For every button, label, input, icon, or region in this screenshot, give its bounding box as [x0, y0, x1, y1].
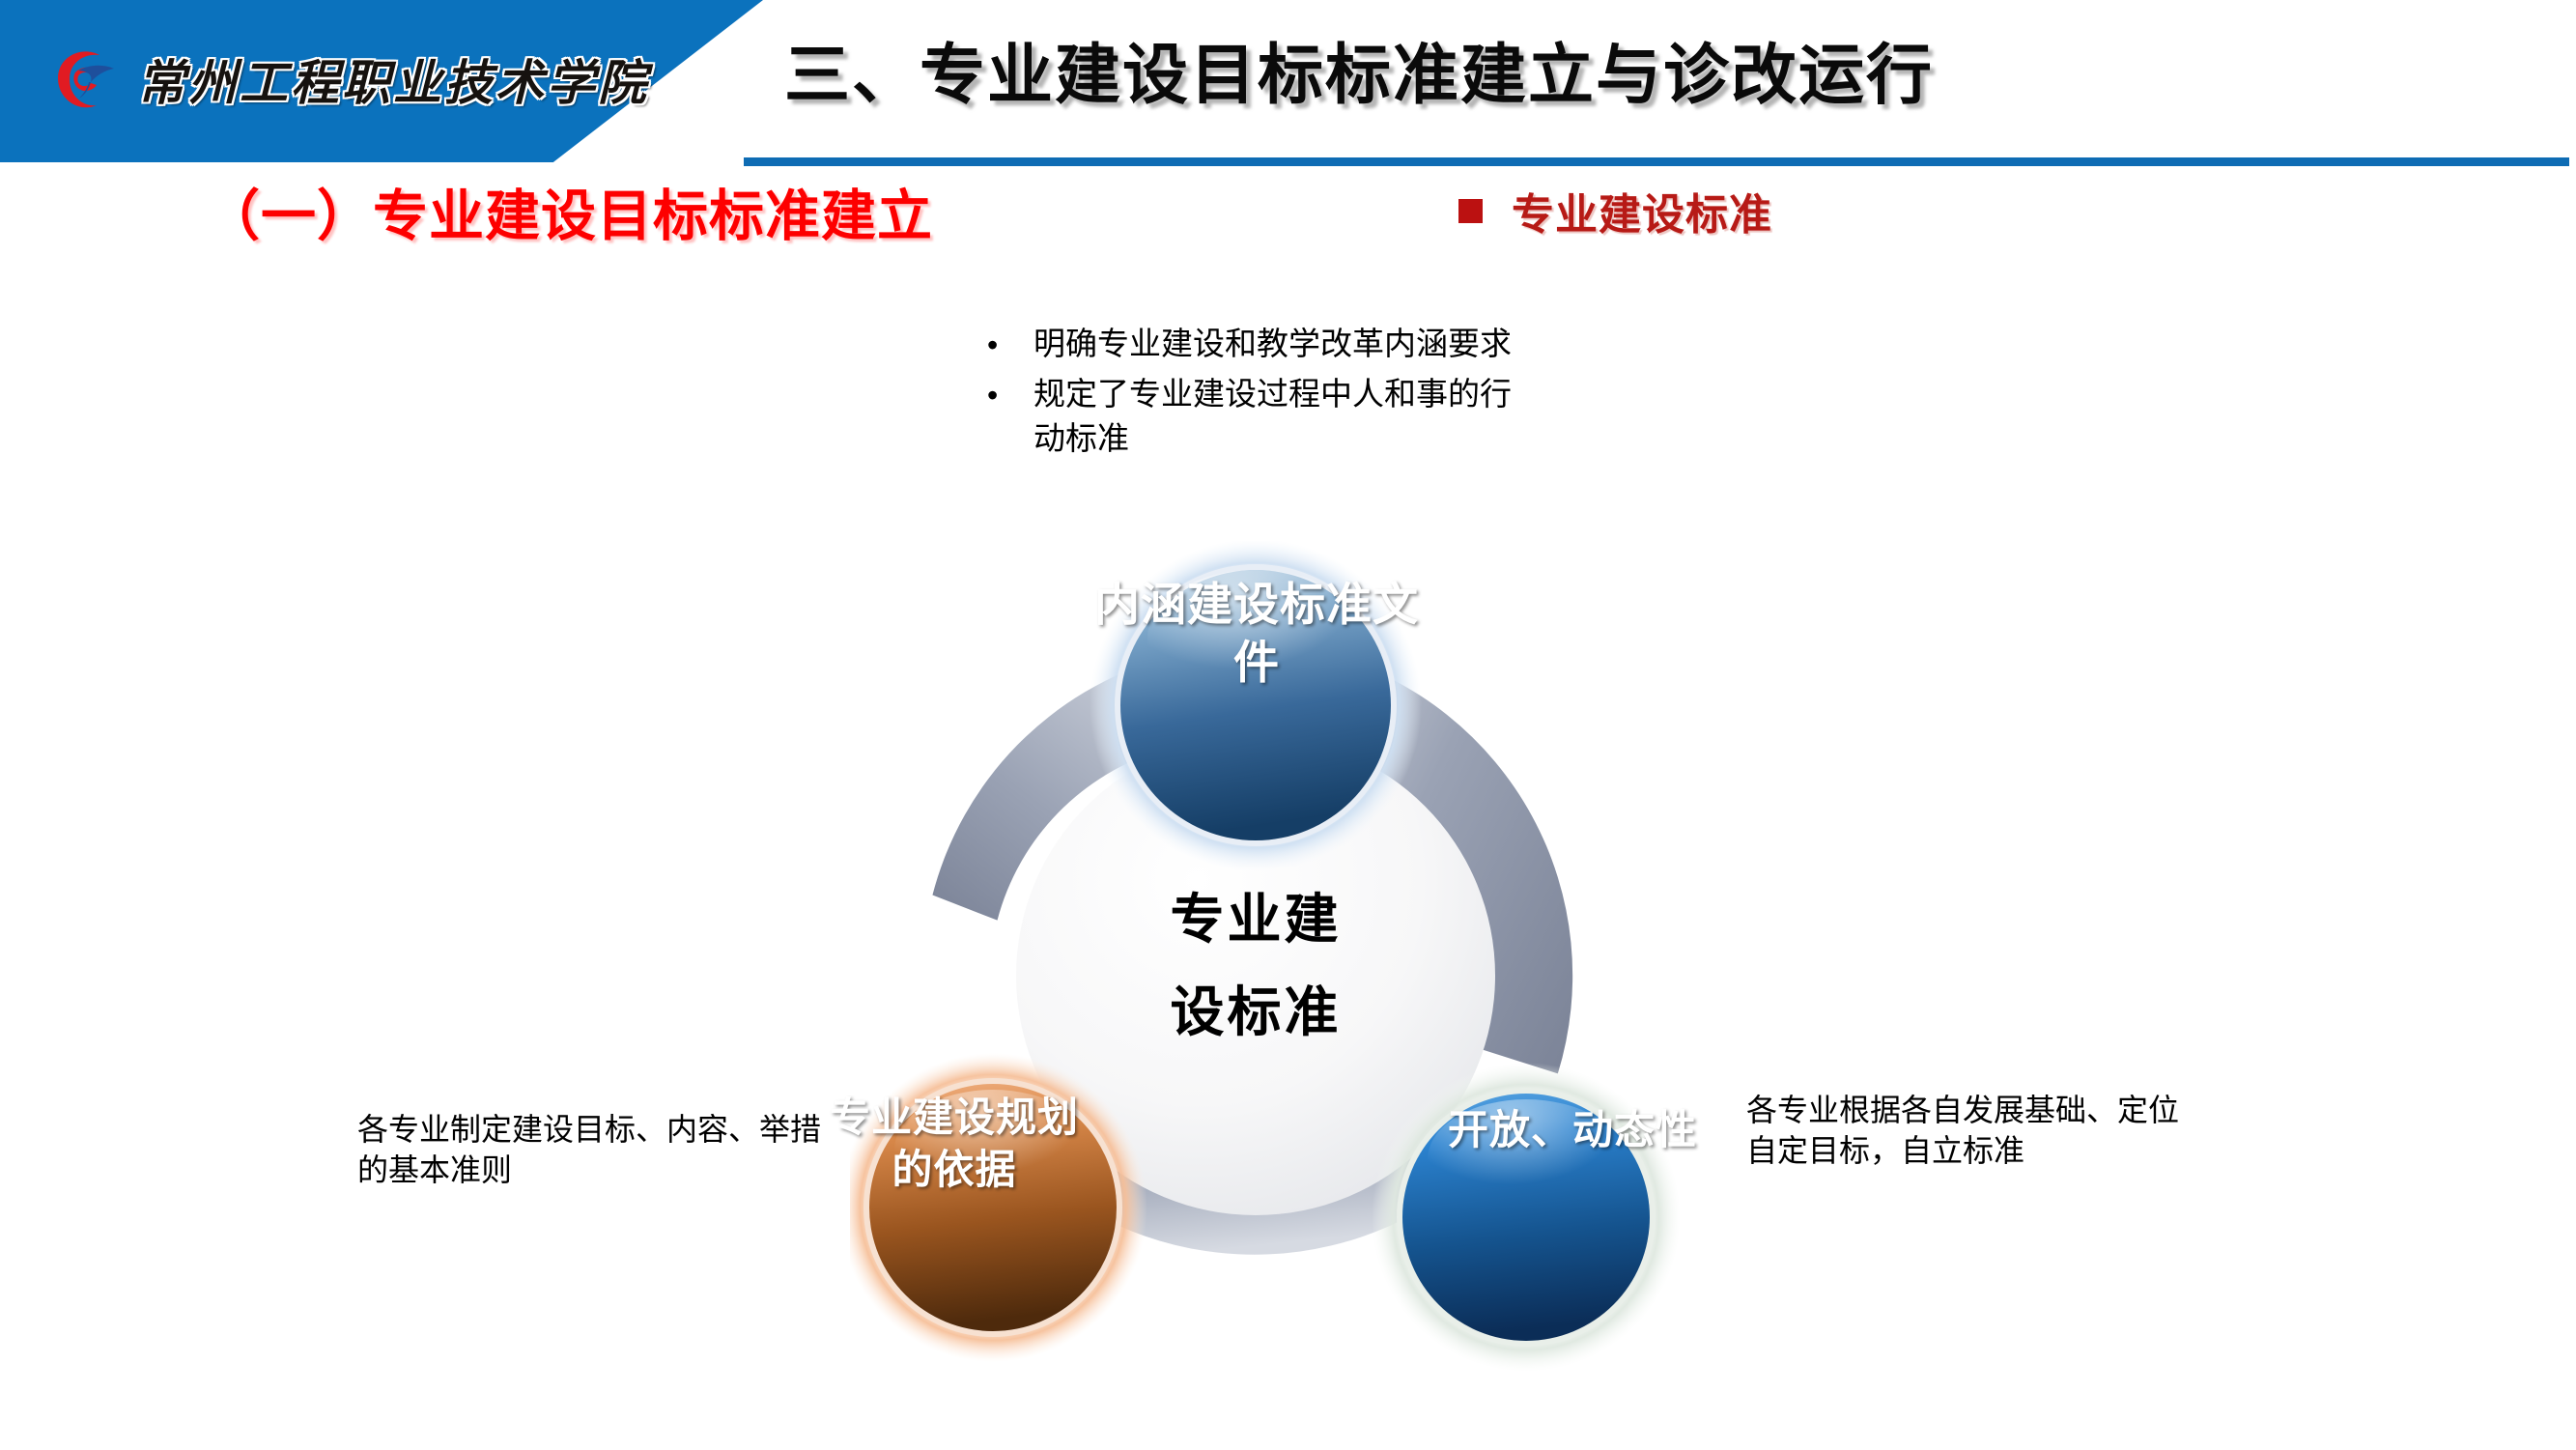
node-top — [1090, 541, 1422, 871]
node-bottom-right — [1372, 1063, 1681, 1372]
bullet-dot-icon: • — [974, 323, 1033, 367]
list-item-label: 规定了专业建设过程中人和事的行动标准 — [1033, 373, 1514, 462]
institute-logo: 常州工程职业技术学院 — [46, 37, 665, 122]
three-circle-cycle-diagram — [850, 541, 1700, 1420]
topic-heading: 专业建设标准 — [1458, 180, 1772, 242]
square-bullet-icon — [1458, 199, 1483, 223]
title-underline-rule — [744, 157, 2569, 166]
annotation-left: 各专业制定建设目标、内容、举措的基本准则 — [357, 1109, 840, 1190]
slide-canvas: 常州工程职业技术学院 三、专业建设目标标准建立与诊改运行 （一）专业建设目标标准… — [0, 0, 2576, 1450]
annotation-right: 各专业根据各自发展基础、定位自定目标，自立标准 — [1746, 1090, 2200, 1171]
section-subtitle: （一）专业建设目标标准建立 — [205, 172, 933, 251]
institute-name: 常州工程职业技术学院 — [137, 44, 649, 114]
list-item: • 明确专业建设和教学改革内涵要求 — [974, 323, 1514, 367]
list-item: • 规定了专业建设过程中人和事的行动标准 — [974, 373, 1514, 462]
page-title: 三、专业建设目标标准建立与诊改运行 — [784, 21, 2523, 117]
node-bottom-left — [850, 1053, 1147, 1362]
bullet-dot-icon: • — [974, 373, 1033, 417]
bullet-list: • 明确专业建设和教学改革内涵要求 • 规定了专业建设过程中人和事的行动标准 — [974, 323, 1514, 468]
topic-heading-label: 专业建设标准 — [1512, 180, 1772, 242]
institute-emblem-icon — [46, 42, 122, 117]
list-item-label: 明确专业建设和教学改革内涵要求 — [1033, 323, 1512, 367]
